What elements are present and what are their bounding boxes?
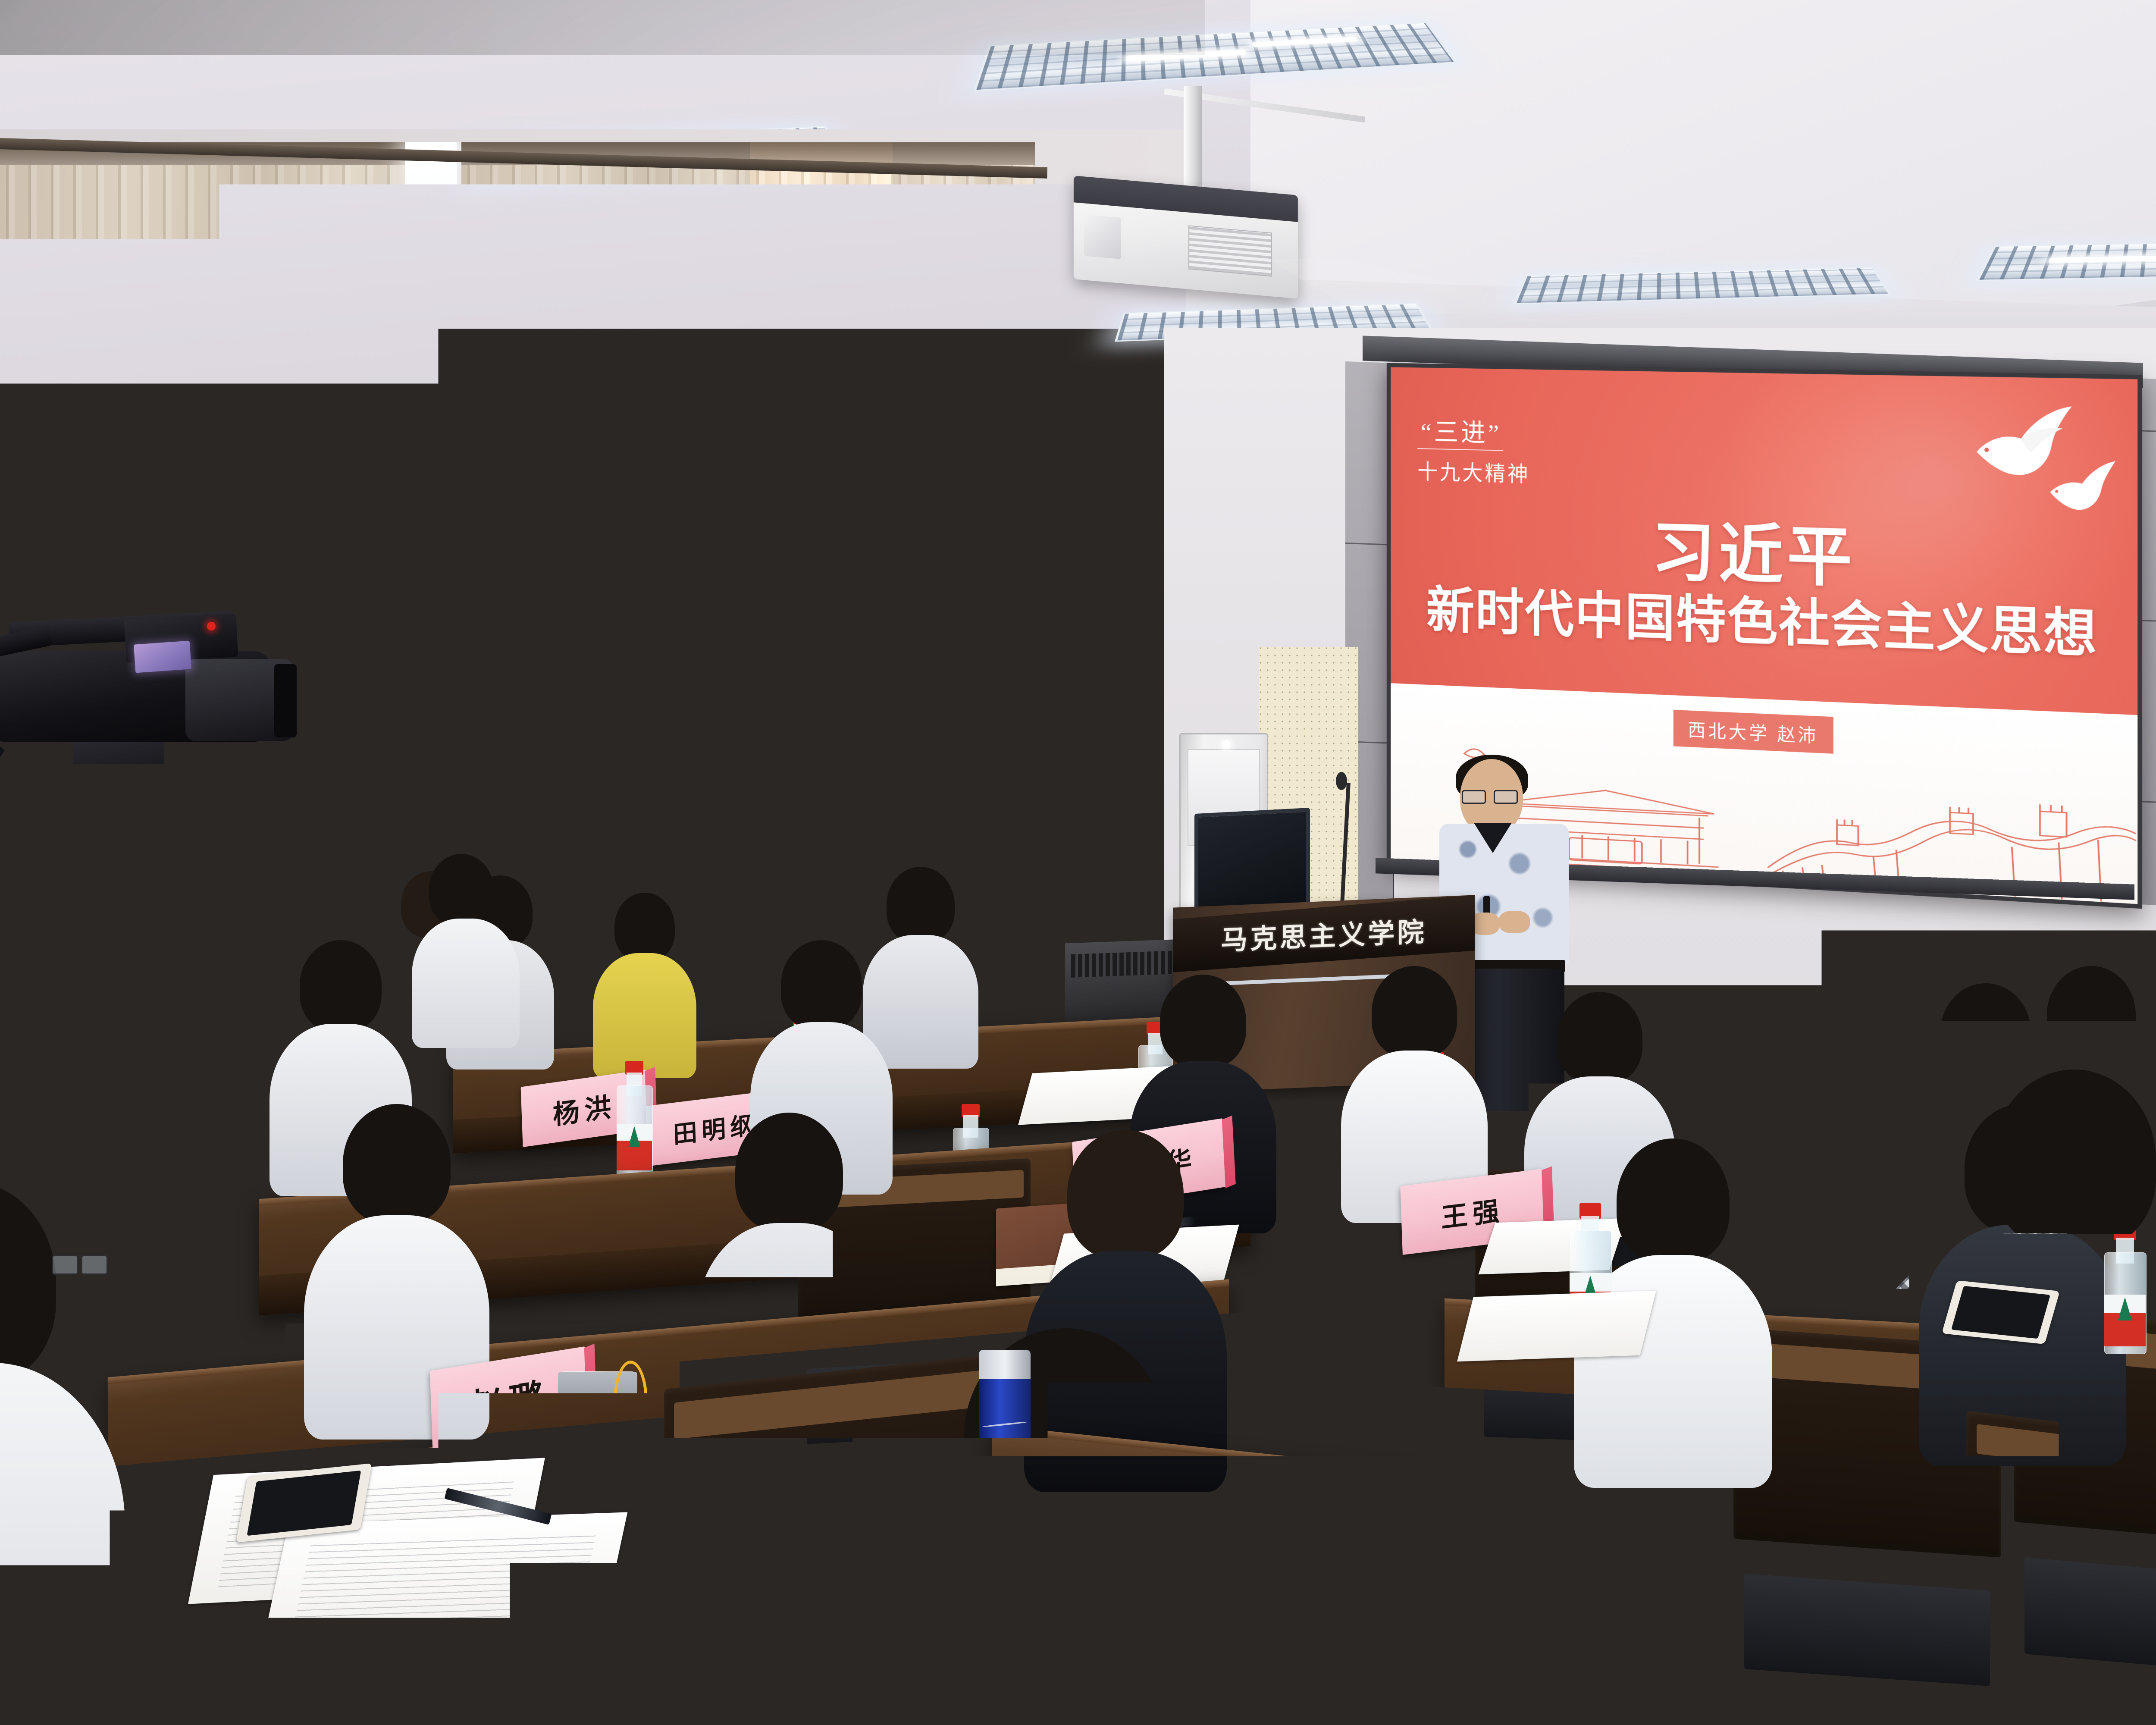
podium-nameplate-text: 马克思主义学院 — [1221, 910, 1426, 957]
ceiling-projector — [1074, 176, 1298, 298]
name-placard-text: 赵璐 — [467, 1367, 551, 1430]
water-bottle — [617, 1061, 652, 1177]
projector-lens — [1084, 214, 1121, 259]
handout-paper — [1457, 1291, 1656, 1362]
lecture-room-photo: “三进” 十九大精神 习近平 新时代中国特色社会主义思想 西北大学 赵沛 — [0, 0, 2156, 1725]
audience-member — [599, 893, 690, 1065]
water-bottle — [1190, 1445, 1233, 1574]
ceiling-light-fixture — [1976, 239, 2156, 281]
air-conditioner-led — [1222, 740, 1231, 749]
eyeglasses-icon — [52, 1255, 108, 1275]
camera-lens-hood — [274, 664, 297, 737]
audience-member — [1350, 966, 1479, 1207]
podium-nameplate: 马克思主义学院 — [1173, 895, 1475, 972]
audience-member-foreground-left — [0, 1182, 233, 1725]
slide-badge-top: “三进” — [1421, 411, 1501, 450]
dove-small-icon — [2043, 452, 2119, 519]
audience-member-foreground-center — [983, 1328, 1371, 1725]
podium-monitor — [1194, 808, 1310, 916]
thermos-flask — [979, 1350, 1031, 1596]
projector-mount-pole — [1184, 86, 1202, 194]
presenter-hand — [1499, 911, 1530, 933]
glasses-icon — [1462, 790, 1518, 802]
projector-vent — [1188, 226, 1272, 277]
record-indicator-icon — [207, 622, 216, 630]
window-frame — [793, 444, 805, 919]
window-frame — [395, 384, 409, 966]
name-placard-text: 杨洪 — [552, 1085, 616, 1132]
camera-lcd-screen[interactable] — [134, 641, 191, 673]
microphone-icon — [1336, 772, 1347, 790]
audience-member — [871, 867, 970, 1057]
audience-member — [436, 854, 526, 1035]
slide-badge-bottom: 十九大精神 — [1417, 455, 1530, 488]
window-frame — [395, 375, 468, 390]
audience-member-foreground-right — [2035, 1069, 2156, 1630]
video-camera-rig — [0, 599, 310, 1203]
